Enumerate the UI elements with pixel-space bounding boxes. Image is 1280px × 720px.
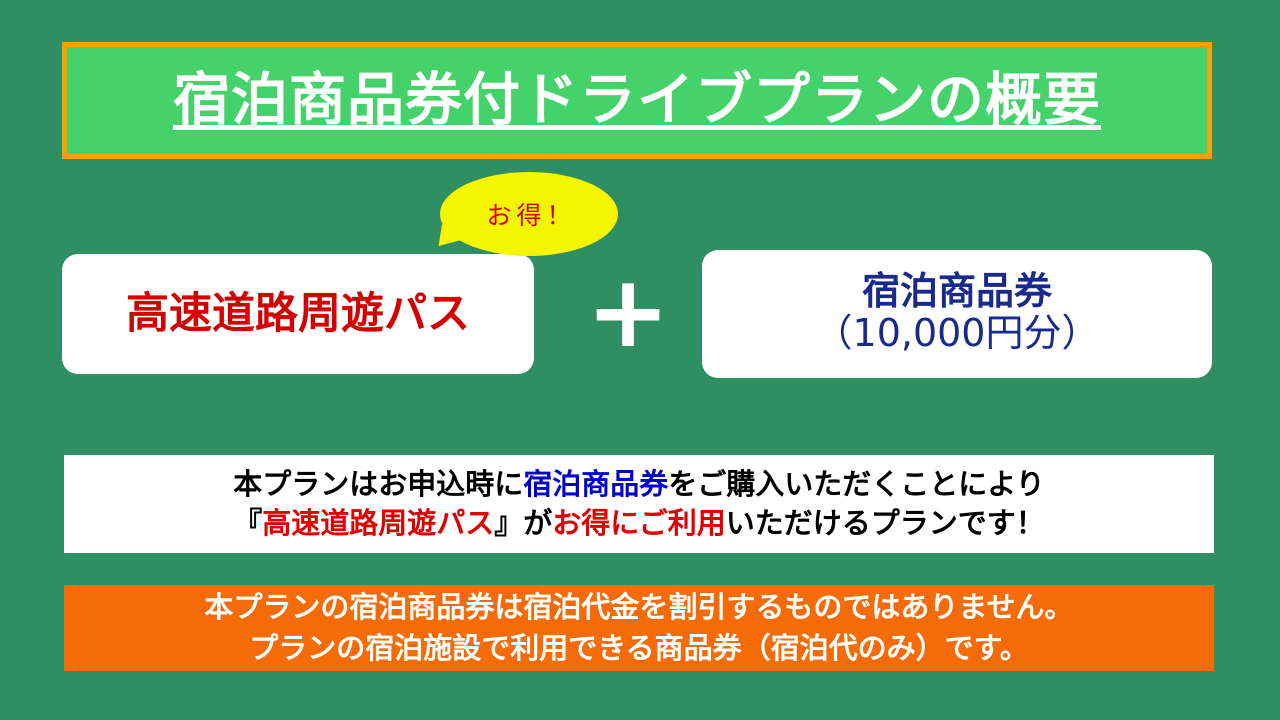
highway-pass-label: 高速道路周遊パス [126, 293, 470, 336]
notice-line-1: 本プランの宿泊商品券は宿泊代金を割引するものではありません。 [204, 587, 1073, 628]
desc2-part3: 』が [494, 506, 552, 540]
highway-pass-card: 高速道路周遊パス [62, 254, 534, 374]
plan-description-line-2: 『高速道路周遊パス』がお得にご利用いただけるプランです！ [233, 504, 1044, 543]
desc1-part3: をご購入いただくことにより [668, 467, 1044, 501]
voucher-amount-label: （10,000円分） [815, 312, 1100, 356]
bubble-body: お得！ [440, 172, 618, 256]
desc2-pass-highlight: 高速道路周遊パス [262, 506, 494, 540]
desc1-part1: 本プランはお申込時に [233, 467, 523, 501]
desc1-voucher-highlight: 宿泊商品券 [523, 467, 668, 501]
desc2-part5: いただけるプランです！ [726, 506, 1045, 540]
accommodation-voucher-card: 宿泊商品券 （10,000円分） [702, 250, 1212, 378]
deal-callout-label: お得！ [481, 196, 576, 232]
desc2-benefit-highlight: お得にご利用 [552, 506, 725, 540]
plan-description-line-1: 本プランはお申込時に宿泊商品券をご購入いただくことにより [233, 465, 1044, 504]
plus-icon: + [576, 264, 680, 364]
voucher-title-label: 宿泊商品券 [862, 272, 1052, 312]
page-title: 宿泊商品券付ドライブプランの概要 [173, 72, 1101, 129]
desc2-part1: 『 [233, 506, 262, 540]
notice-box: 本プランの宿泊商品券は宿泊代金を割引するものではありません。 プランの宿泊施設で… [64, 585, 1214, 671]
notice-line-2: プランの宿泊施設で利用できる商品券（宿泊代のみ）です。 [249, 628, 1029, 669]
plan-description-box: 本プランはお申込時に宿泊商品券をご購入いただくことにより 『高速道路周遊パス』が… [64, 455, 1214, 553]
title-banner: 宿泊商品券付ドライブプランの概要 [62, 42, 1212, 159]
